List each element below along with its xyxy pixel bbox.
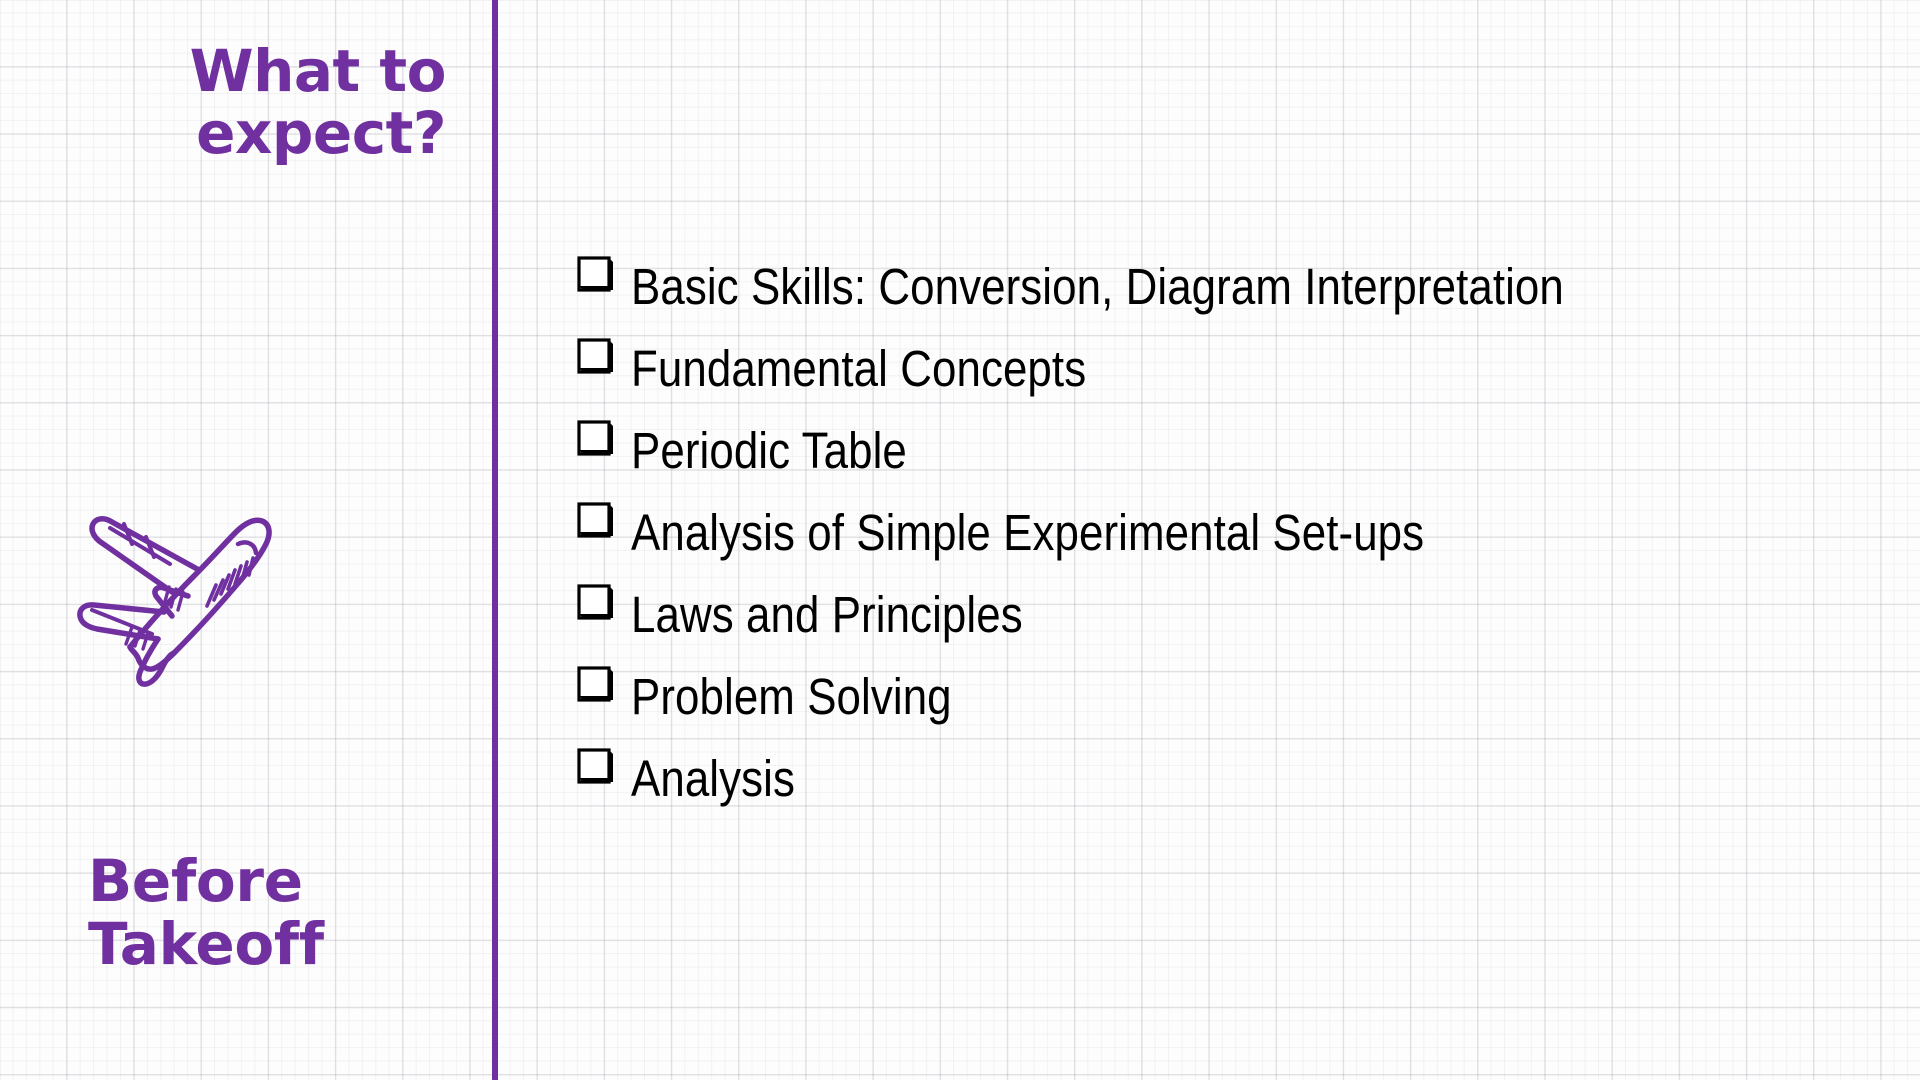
list-item-label: Problem Solving	[631, 671, 952, 722]
list-item-label: Analysis	[631, 753, 795, 804]
page-title: What to expect?	[0, 40, 460, 164]
expectations-list: Basic Skills: Conversion, Diagram Interp…	[575, 258, 1865, 832]
left-panel: What to expect?	[0, 0, 492, 1080]
list-item-label: Basic Skills: Conversion, Diagram Interp…	[631, 261, 1564, 312]
list-item-label: Periodic Table	[631, 425, 907, 476]
list-item-label: Fundamental Concepts	[631, 343, 1086, 394]
checkbox-icon[interactable]	[575, 502, 631, 548]
checkbox-icon[interactable]	[575, 666, 631, 712]
list-item[interactable]: Laws and Principles	[575, 586, 1865, 668]
list-item[interactable]: Periodic Table	[575, 422, 1865, 504]
list-item[interactable]: Analysis	[575, 750, 1865, 832]
list-item-label: Laws and Principles	[631, 589, 1023, 640]
checkbox-icon[interactable]	[575, 338, 631, 384]
airplane-icon	[68, 488, 298, 688]
checkbox-icon[interactable]	[575, 584, 631, 630]
list-item[interactable]: Problem Solving	[575, 668, 1865, 750]
tagline-text: Before Takeoff	[0, 850, 420, 976]
vertical-divider	[492, 0, 498, 1080]
checkbox-icon[interactable]	[575, 420, 631, 466]
checkbox-icon[interactable]	[575, 256, 631, 302]
list-item[interactable]: Basic Skills: Conversion, Diagram Interp…	[575, 258, 1865, 340]
checkbox-icon[interactable]	[575, 748, 631, 794]
slide-canvas: What to expect?	[0, 0, 1920, 1080]
list-item[interactable]: Fundamental Concepts	[575, 340, 1865, 422]
list-item-label: Analysis of Simple Experimental Set-ups	[631, 507, 1424, 558]
list-item[interactable]: Analysis of Simple Experimental Set-ups	[575, 504, 1865, 586]
